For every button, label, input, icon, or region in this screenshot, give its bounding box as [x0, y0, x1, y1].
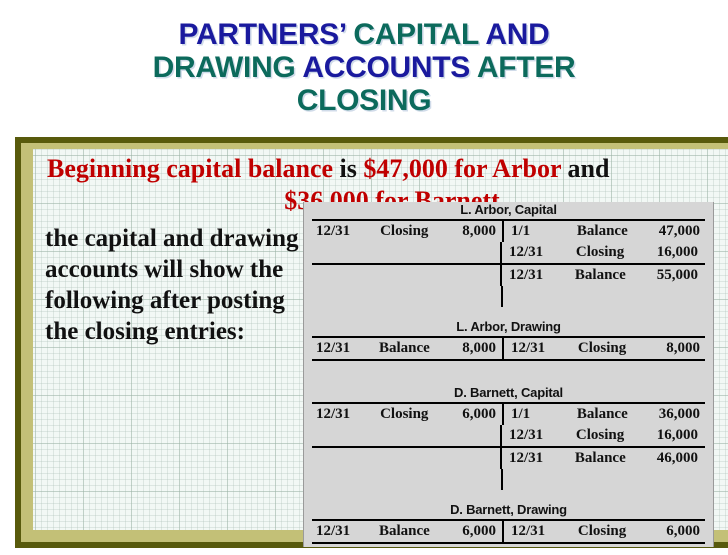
debit-side: 12/31 Balance 6,000 — [312, 521, 502, 542]
entry-amount: 36,000 — [628, 406, 707, 423]
credit-side: 12/31 Closing 8,000 — [502, 338, 707, 359]
title-word-after: AFTER — [477, 51, 576, 84]
entry-date: 12/31 — [502, 427, 562, 444]
entry-date: 12/31 — [312, 406, 370, 423]
debit-side — [312, 469, 501, 490]
entry-amount: 47,000 — [628, 223, 707, 240]
t-account-arbor-drawing: L. Arbor, Drawing 12/31 Balance 8,000 12… — [312, 319, 705, 361]
debit-side — [312, 425, 500, 446]
t-account-barnett-capital: D. Barnett, Capital 12/31 Closing 6,000 … — [312, 385, 705, 490]
title-word-and: AND — [485, 18, 549, 51]
debit-side — [312, 242, 500, 263]
entry-amount: 8,000 — [430, 340, 502, 357]
entry-date: 12/31 — [312, 223, 370, 240]
table-row: 12/31 Balance 6,000 12/31 Closing 6,000 — [312, 521, 705, 542]
t-account-close-rule — [312, 542, 705, 544]
t-account-title: D. Barnett, Capital — [312, 385, 705, 402]
entry-date: 1/1 — [504, 223, 563, 240]
entry-description: Balance — [369, 340, 430, 357]
debit-side — [312, 448, 500, 469]
headline-part-3: $47,000 for Arbor — [363, 154, 561, 183]
entry-amount: 6,000 — [626, 523, 707, 540]
title-word-capital: CAPITAL — [353, 18, 478, 51]
title-word-partners: PARTNERS’ — [179, 18, 346, 51]
t-account-title: D. Barnett, Drawing — [312, 502, 705, 519]
debit-side: 12/31 Balance 8,000 — [312, 338, 502, 359]
entry-date: 12/31 — [502, 267, 561, 284]
entry-description: Closing — [562, 427, 624, 444]
table-row-empty — [312, 469, 705, 490]
table-row: 12/31 Closing 6,000 1/1 Balance 36,000 — [312, 404, 705, 425]
credit-side: 12/31 Closing 6,000 — [502, 521, 707, 542]
entry-date: 12/31 — [312, 340, 369, 357]
entry-date: 12/31 — [502, 450, 561, 467]
credit-side — [501, 286, 705, 307]
entry-description: Closing — [370, 223, 428, 240]
credit-side: 12/31 Balance 55,000 — [500, 265, 705, 286]
debit-side: 12/31 Closing 8,000 — [312, 221, 502, 242]
t-account-barnett-drawing: D. Barnett, Drawing 12/31 Balance 6,000 … — [312, 502, 705, 544]
entry-amount: 46,000 — [626, 450, 705, 467]
slide-canvas: PARTNERS’ CAPITAL AND DRAWING ACCOUNTS A… — [0, 0, 728, 555]
body-paragraph: the capital and drawing accounts will sh… — [45, 223, 300, 347]
entry-amount: 16,000 — [624, 427, 705, 444]
entry-description: Balance — [369, 523, 430, 540]
entry-description: Balance — [563, 406, 628, 423]
entry-description: Closing — [564, 523, 626, 540]
entry-date: 12/31 — [504, 340, 564, 357]
t-account-arbor-capital: L. Arbor, Capital 12/31 Closing 8,000 1/… — [312, 202, 705, 307]
credit-side: 12/31 Balance 46,000 — [500, 448, 705, 469]
table-row: 12/31 Closing 16,000 — [312, 242, 705, 263]
table-row: 12/31 Closing 8,000 1/1 Balance 47,000 — [312, 221, 705, 242]
headline-part-4: and — [568, 154, 610, 183]
table-row: 12/31 Balance 8,000 12/31 Closing 8,000 — [312, 338, 705, 359]
debit-side — [312, 286, 501, 307]
entry-description: Balance — [561, 450, 626, 467]
credit-side — [501, 469, 705, 490]
entry-description: Closing — [562, 244, 624, 261]
title-line-2: DRAWING ACCOUNTS AFTER — [0, 51, 728, 84]
entry-description: Closing — [370, 406, 428, 423]
table-row: 12/31 Balance 55,000 — [312, 265, 705, 286]
credit-side: 12/31 Closing 16,000 — [500, 242, 705, 263]
debit-side — [312, 265, 500, 286]
entry-description: Closing — [564, 340, 626, 357]
t-account-title: L. Arbor, Capital — [312, 202, 705, 219]
entry-amount: 6,000 — [428, 406, 502, 423]
entry-date: 12/31 — [504, 523, 564, 540]
table-row-empty — [312, 286, 705, 307]
entry-amount: 8,000 — [428, 223, 502, 240]
entry-date: 1/1 — [504, 406, 563, 423]
title-line-1: PARTNERS’ CAPITAL AND — [0, 18, 728, 51]
t-account-title: L. Arbor, Drawing — [312, 319, 705, 336]
t-account-close-rule — [312, 359, 705, 361]
title-word-accounts: ACCOUNTS — [302, 51, 470, 84]
entry-description: Balance — [563, 223, 628, 240]
title-word-drawing: DRAWING — [153, 51, 296, 84]
entry-amount: 16,000 — [624, 244, 705, 261]
table-row: 12/31 Closing 16,000 — [312, 425, 705, 446]
entry-amount: 8,000 — [626, 340, 707, 357]
headline-part-2: is — [340, 154, 357, 183]
entry-amount: 55,000 — [626, 267, 705, 284]
slide-title: PARTNERS’ CAPITAL AND DRAWING ACCOUNTS A… — [0, 18, 728, 117]
entry-date: 12/31 — [312, 523, 369, 540]
credit-side: 12/31 Closing 16,000 — [500, 425, 705, 446]
table-row: 12/31 Balance 46,000 — [312, 448, 705, 469]
title-word-closing: CLOSING — [297, 84, 432, 117]
credit-side: 1/1 Balance 47,000 — [502, 221, 707, 242]
headline-part-1: Beginning capital balance — [47, 154, 333, 183]
credit-side: 1/1 Balance 36,000 — [502, 404, 707, 425]
t-accounts-panel: L. Arbor, Capital 12/31 Closing 8,000 1/… — [303, 202, 714, 547]
entry-date: 12/31 — [502, 244, 562, 261]
title-line-3: CLOSING — [0, 84, 728, 117]
entry-amount: 6,000 — [430, 523, 502, 540]
debit-side: 12/31 Closing 6,000 — [312, 404, 502, 425]
entry-description: Balance — [561, 267, 626, 284]
